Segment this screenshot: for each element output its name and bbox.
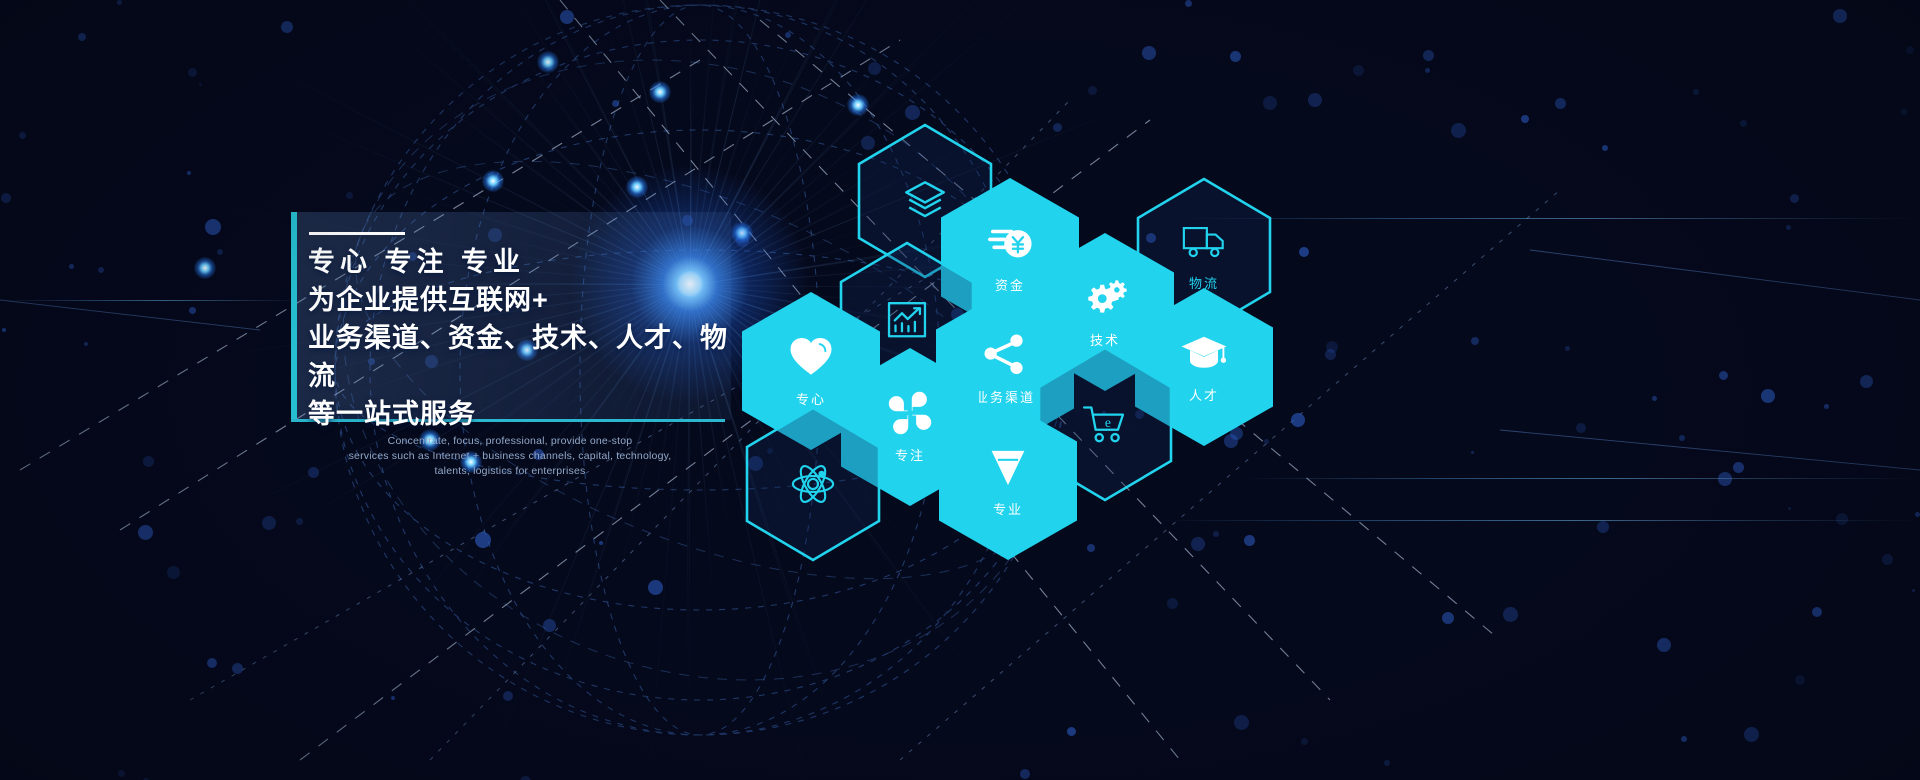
hexagon-label: 专注	[895, 445, 925, 464]
headline-top-rule	[309, 232, 405, 235]
hexagon-label: 专业	[993, 499, 1023, 518]
hexagon-label: 业务渠道	[975, 387, 1035, 406]
headline-block: 专心 专注 专业 为企业提供互联网+ 业务渠道、资金、技术、人才、物流 等一站式…	[308, 243, 738, 433]
diamond-icon	[985, 444, 1031, 490]
hexagon-label: 人才	[1189, 385, 1219, 404]
subtitle-block: Concentrate, focus, professional, provid…	[330, 434, 690, 479]
hexagon-label: 资金	[995, 275, 1025, 294]
atom-icon	[790, 461, 836, 507]
subtitle-line-3: talents, logistics for enterprises	[330, 464, 690, 479]
headline-line-2: 为企业提供互联网+	[308, 281, 738, 319]
hexagon-label: 专心	[796, 389, 826, 408]
heart-icon	[788, 334, 834, 380]
shopping-cart-e-icon: e	[1082, 401, 1128, 447]
gears-icon	[1082, 275, 1128, 321]
subtitle-line-2: services such as Internet + business cha…	[330, 449, 690, 464]
money-yen-icon	[987, 220, 1033, 266]
layers-icon	[902, 178, 948, 224]
graduation-cap-icon	[1181, 330, 1227, 376]
share-nodes-icon	[982, 332, 1028, 378]
hexagon-cluster: 资金物流技术专心业务渠道人才专注e专业	[0, 0, 1920, 780]
clover-icon	[887, 390, 933, 436]
headline-line-1: 专心 专注 专业	[308, 243, 738, 281]
delivery-truck-icon	[1181, 218, 1227, 264]
subtitle-line-1: Concentrate, focus, professional, provid…	[330, 434, 690, 449]
headline-line-3: 业务渠道、资金、技术、人才、物流	[308, 319, 738, 395]
headline-line-4: 等一站式服务	[308, 395, 738, 433]
banner-stage: 资金物流技术专心业务渠道人才专注e专业 专心 专注 专业 为企业提供互联网+ 业…	[0, 0, 1920, 780]
svg-text:e: e	[1105, 415, 1111, 430]
bar-chart-icon	[884, 296, 930, 342]
